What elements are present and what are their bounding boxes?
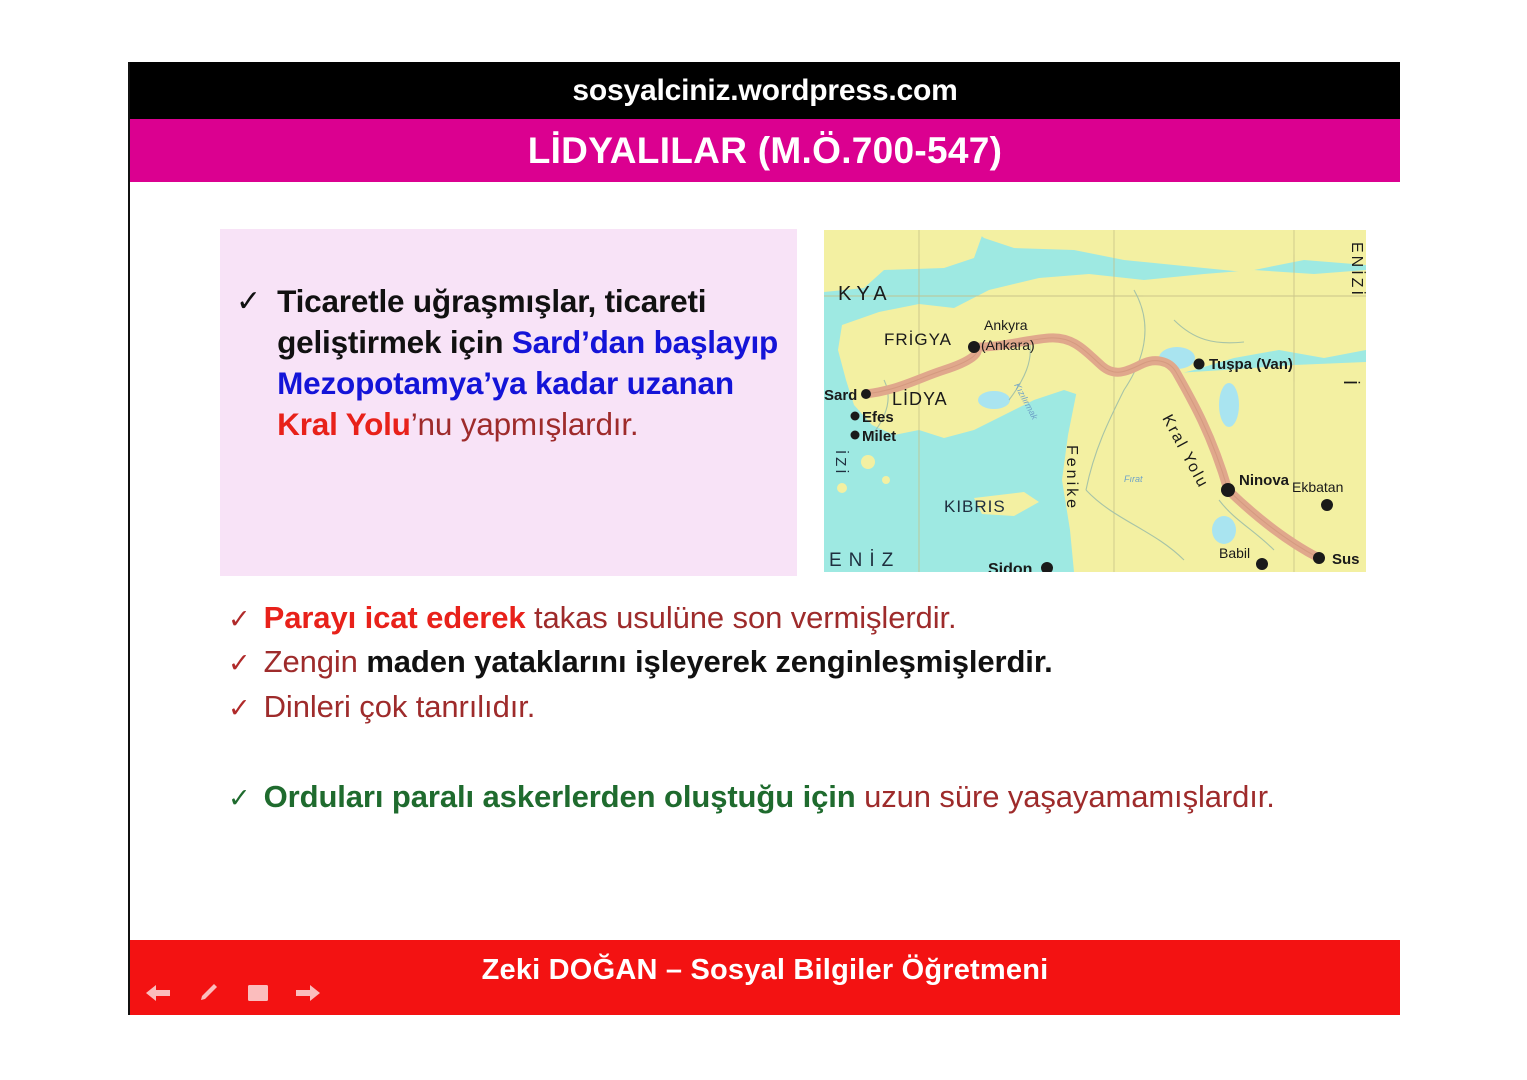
list-item-text: Parayı icat ederek takas usulüne son ver… — [264, 597, 957, 639]
map-label-ankara: (Ankara) — [981, 337, 1035, 353]
map-label-tuspa: Tuşpa (Van) — [1209, 356, 1293, 373]
list-item-text: Zengin maden yataklarını işleyerek zengi… — [264, 641, 1053, 683]
page-title: LİDYALILAR (M.Ö.700-547) — [528, 130, 1003, 172]
list-item-text: Orduları paralı askerlerden oluştuğu içi… — [264, 776, 1275, 818]
map-label-babil: Babil — [1219, 545, 1250, 561]
list-item-text: Dinleri çok tanrılıdır. — [264, 686, 536, 728]
map-label-sidon: Sidon — [988, 561, 1032, 572]
next-slide-icon[interactable] — [294, 981, 322, 1005]
map-label-lidya: LİDYA — [892, 389, 948, 409]
previous-slide-icon[interactable] — [144, 981, 172, 1005]
site-banner: sosyalciniz.wordpress.com — [130, 62, 1400, 119]
panel-text-maroon: ’nu yapmışlardır. — [411, 406, 639, 442]
bullet-4-emphasis: Orduları paralı askerlerden oluştuğu içi… — [264, 779, 864, 814]
slide-menu-icon[interactable] — [244, 981, 272, 1005]
slide-title-bar: LİDYALILAR (M.Ö.700-547) — [130, 119, 1400, 182]
bullet-list: ✓ Parayı icat ederek takas usulüne son v… — [228, 597, 1370, 821]
presentation-slide: sosyalciniz.wordpress.com LİDYALILAR (M.… — [128, 62, 1400, 1015]
check-mark-icon: ✓ — [228, 650, 251, 677]
bullet-4-rest: uzun süre yaşayamamışlardır. — [864, 779, 1275, 814]
panel-text-red: Kral Yolu — [277, 406, 411, 442]
map-label-fenike: Fenike — [1063, 445, 1080, 511]
royal-road-map: Kızılırmak Fırat — [824, 230, 1366, 572]
bullet-1-rest: takas usulüne son vermişlerdir. — [534, 600, 956, 635]
check-mark-icon: ✓ — [228, 606, 251, 633]
map-label-ankyra: Ankyra — [984, 317, 1028, 333]
map-label-enizi: ENİZİ — [1348, 242, 1366, 298]
map-label-milet: Milet — [862, 428, 896, 445]
map-label-kya: KYA — [838, 283, 892, 305]
list-item: ✓ Parayı icat ederek takas usulüne son v… — [228, 597, 1370, 639]
map-label-eniz: ENİZ — [829, 550, 900, 571]
map-label-i: İ — [1340, 380, 1360, 385]
map-label-frigya: FRİGYA — [884, 330, 952, 349]
list-item: ✓ Zengin maden yataklarını işleyerek zen… — [228, 641, 1370, 683]
river-label-firat: Fırat — [1124, 474, 1143, 484]
map-label-izi: İZİ — [832, 450, 850, 477]
bullet-2-lead: Zengin — [264, 644, 367, 679]
map-label-ekbatan: Ekbatan — [1292, 479, 1343, 495]
list-spacer — [228, 730, 1370, 776]
list-item: ✓ Orduları paralı askerlerden oluştuğu i… — [228, 776, 1370, 818]
slide-body: ✓ Ticaretle uğraşmışlar, ticareti gelişt… — [130, 182, 1400, 940]
bullet-1-emphasis: Parayı icat ederek — [264, 600, 534, 635]
bullet-2-emphasis: maden yataklarını işleyerek zenginleşmiş… — [366, 644, 1052, 679]
map-label-sard: Sard — [824, 387, 857, 404]
map-label-ninova: Ninova — [1239, 472, 1290, 489]
slideshow-navigation — [144, 981, 322, 1005]
check-mark-icon: ✓ — [228, 695, 251, 722]
bullet-3-text: Dinleri çok tanrılıdır. — [264, 689, 536, 724]
highlight-panel: ✓ Ticaretle uğraşmışlar, ticareti gelişt… — [220, 229, 797, 576]
list-item: ✓ Dinleri çok tanrılıdır. — [228, 686, 1370, 728]
panel-paragraph: Ticaretle uğraşmışlar, ticareti geliştir… — [277, 281, 787, 445]
map-graphic: Kızılırmak Fırat — [824, 230, 1366, 572]
site-url-text: sosyalciniz.wordpress.com — [572, 74, 957, 108]
map-label-efes: Efes — [862, 409, 894, 426]
check-mark-icon: ✓ — [236, 287, 261, 317]
map-label-kibris: KIBRIS — [944, 497, 1006, 516]
slide-footer: Zeki DOĞAN – Sosyal Bilgiler Öğretmeni — [130, 940, 1400, 1015]
pen-tool-icon[interactable] — [194, 981, 222, 1005]
map-label-sus: Sus — [1332, 551, 1360, 568]
check-mark-icon: ✓ — [228, 785, 251, 812]
